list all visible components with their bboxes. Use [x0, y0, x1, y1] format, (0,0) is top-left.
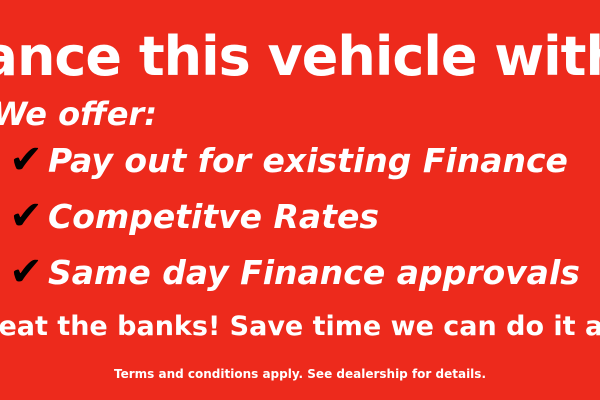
- offer-label: We offer:: [0, 98, 157, 130]
- banner-headline: Finance this vehicle with us: [0, 30, 600, 84]
- banner-tagline: We will beat the banks! Save time we can…: [0, 313, 600, 340]
- checkmark-icon: ✔: [4, 140, 48, 180]
- list-item-label: Same day Finance approvals: [48, 256, 580, 289]
- checkmark-icon: ✔: [4, 196, 48, 236]
- list-item: ✔ Same day Finance approvals: [0, 244, 600, 300]
- list-item-label: Competitve Rates: [48, 200, 379, 233]
- disclaimer-text: Terms and conditions apply. See dealersh…: [0, 368, 600, 380]
- list-item: ✔ Pay out for existing Finance: [0, 132, 600, 188]
- list-item: ✔ Competitve Rates: [0, 188, 600, 244]
- benefits-list: ✔ Pay out for existing Finance ✔ Competi…: [0, 132, 600, 300]
- list-item-label: Pay out for existing Finance: [48, 144, 568, 177]
- checkmark-icon: ✔: [4, 252, 48, 292]
- finance-promo-banner: Finance this vehicle with us We offer: ✔…: [0, 0, 600, 400]
